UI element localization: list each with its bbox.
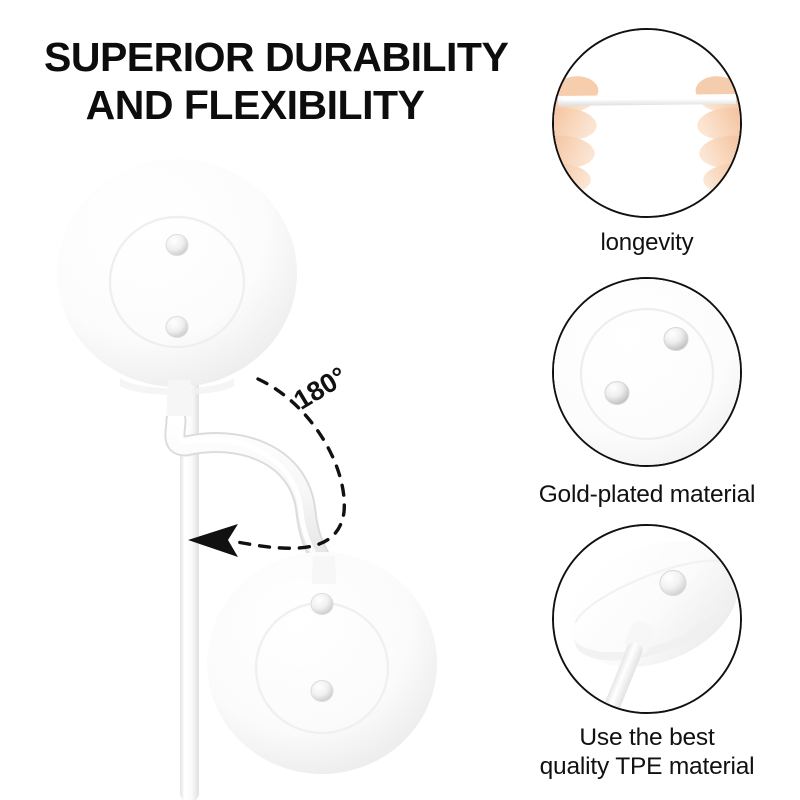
product-illustration: 180° [0, 0, 500, 800]
feature-caption: Use the best quality TPE material [497, 724, 797, 782]
rotation-arc-annotation [188, 379, 344, 557]
feature-longevity: longevity [497, 28, 797, 257]
charger-disc-contacts-icon [552, 277, 742, 467]
infographic-canvas: SUPERIOR DURABILITY AND FLEXIBILITY [0, 0, 800, 800]
charger-disc-cable-icon [552, 524, 742, 714]
top-charger-disc [57, 159, 297, 416]
bottom-charger-disc [207, 552, 437, 774]
feature-caption: Gold-plated material [497, 481, 797, 510]
hands-stretching-cable-icon [552, 28, 742, 218]
feature-gold-plated: Gold-plated material [497, 277, 797, 510]
feature-caption: longevity [497, 229, 797, 257]
feature-tpe-material: Use the best quality TPE material [497, 524, 797, 782]
angle-label: 180° [289, 361, 352, 415]
